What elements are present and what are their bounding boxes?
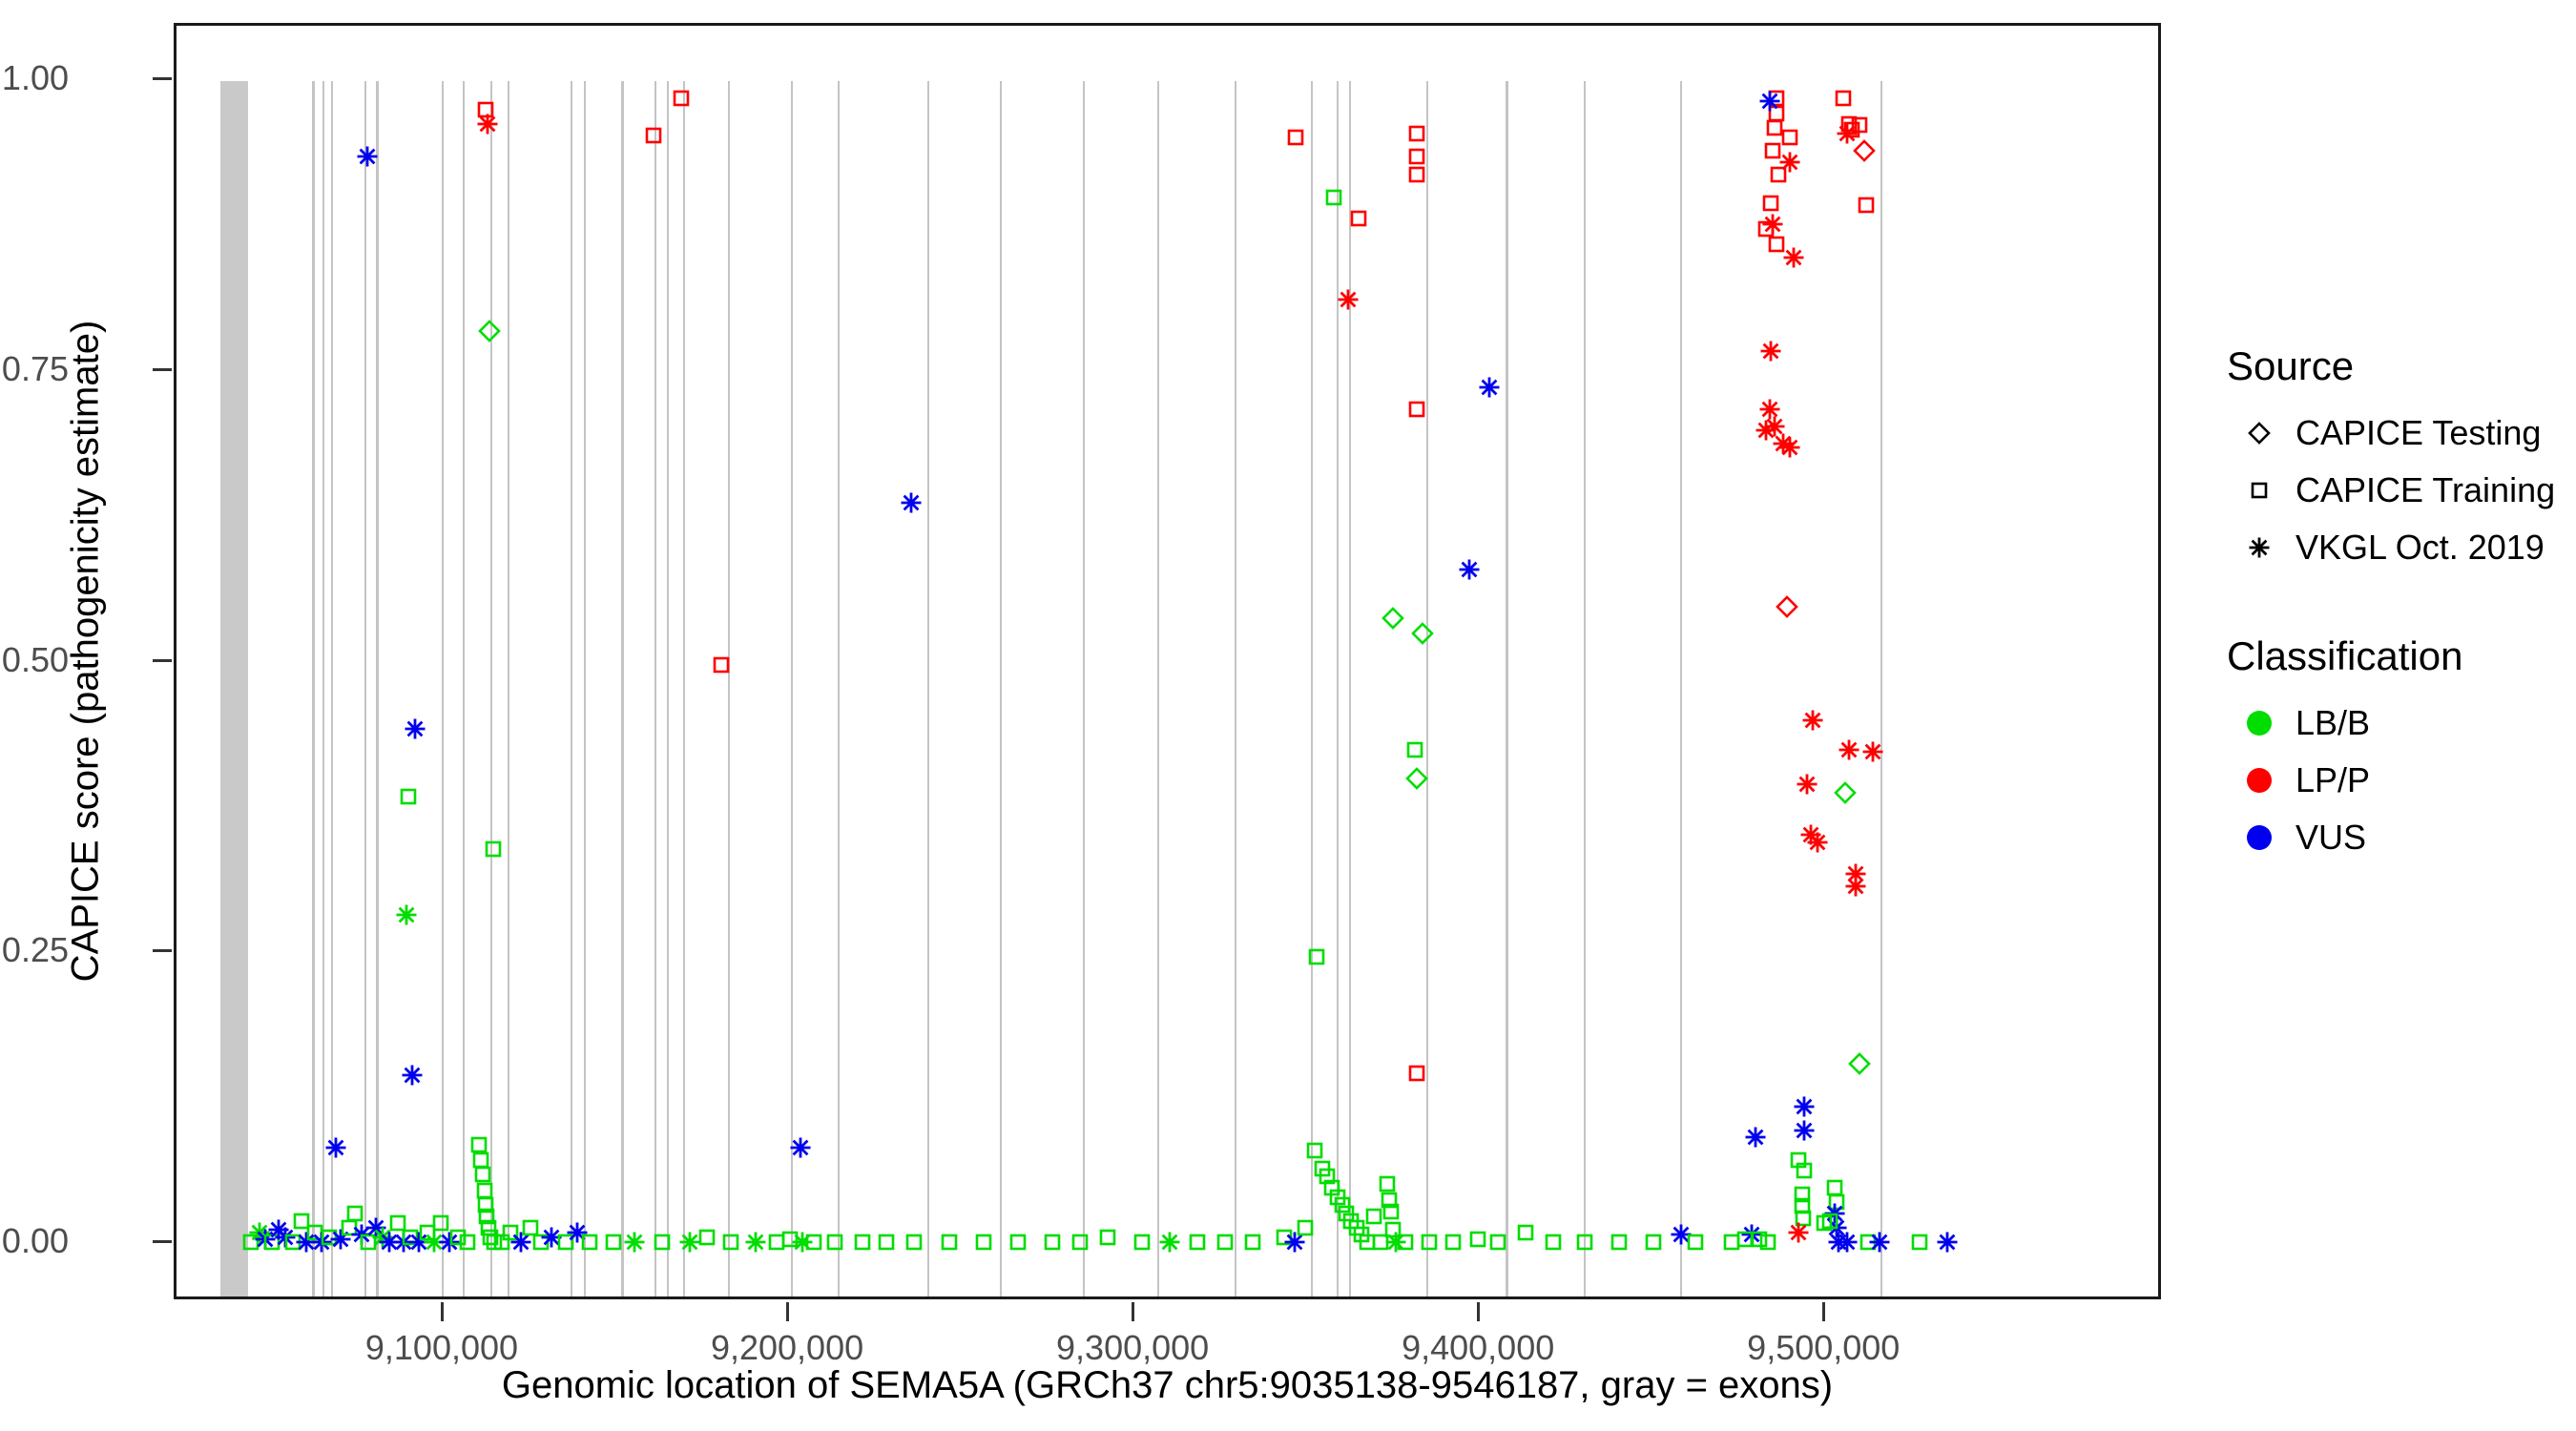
data-point xyxy=(317,1225,342,1250)
data-point xyxy=(394,902,419,927)
data-point xyxy=(273,1225,298,1250)
data-point xyxy=(1719,1230,1744,1255)
data-point xyxy=(1843,861,1868,886)
color-dot-icon xyxy=(2223,825,2296,850)
legend-classification-items: LB/BLP/PVUS xyxy=(2223,695,2566,866)
data-point xyxy=(472,1178,497,1203)
legend-item-label: LB/B xyxy=(2296,703,2370,743)
data-point xyxy=(1792,1118,1817,1143)
data-point xyxy=(489,1230,514,1255)
data-point xyxy=(1293,1215,1318,1240)
data-point xyxy=(529,1230,553,1255)
data-point xyxy=(1792,1158,1817,1183)
data-point xyxy=(398,1225,423,1250)
exon-marker xyxy=(1000,81,1002,1296)
data-point xyxy=(415,1220,440,1245)
exon-marker xyxy=(571,81,572,1296)
data-point xyxy=(337,1215,362,1240)
legend-source-title: Source xyxy=(2227,343,2566,389)
data-point xyxy=(801,1230,826,1255)
data-point xyxy=(1818,1209,1842,1234)
data-point xyxy=(1410,621,1435,646)
data-point xyxy=(1831,86,1856,111)
data-point xyxy=(1777,150,1802,175)
data-point xyxy=(1766,162,1791,187)
data-point xyxy=(473,97,498,122)
data-point xyxy=(1465,1227,1490,1252)
y-tick-mark xyxy=(153,1240,172,1243)
data-point xyxy=(1513,1220,1538,1245)
data-point xyxy=(1130,1230,1154,1255)
legend-item-asterisk[interactable]: VKGL Oct. 2019 xyxy=(2223,519,2566,576)
data-point xyxy=(1775,594,1799,619)
data-point xyxy=(396,784,421,809)
exon-region-wide xyxy=(220,81,248,1296)
data-point xyxy=(1361,1204,1386,1229)
data-point xyxy=(1786,1220,1811,1245)
x-tick-label: 9,300,000 xyxy=(1056,1328,1209,1368)
exon-marker xyxy=(1349,81,1351,1296)
data-point xyxy=(1006,1230,1030,1255)
exon-marker xyxy=(1584,81,1586,1296)
exon-marker xyxy=(322,81,324,1296)
data-point xyxy=(1907,1230,1932,1255)
data-point xyxy=(400,1063,425,1088)
data-point xyxy=(937,1230,962,1255)
data-point xyxy=(509,1230,533,1255)
exon-marker xyxy=(312,81,314,1296)
exon-marker xyxy=(621,81,623,1296)
exon-marker xyxy=(490,81,492,1296)
data-point xyxy=(850,1230,875,1255)
data-point xyxy=(1762,414,1787,439)
legend-item-lp-p[interactable]: LP/P xyxy=(2223,752,2566,809)
data-point xyxy=(718,1230,743,1255)
exon-marker xyxy=(463,81,465,1296)
data-point xyxy=(1824,1190,1849,1214)
data-point xyxy=(370,1225,395,1250)
data-point xyxy=(403,716,427,741)
x-tick-mark xyxy=(1132,1302,1134,1321)
y-tick-mark xyxy=(153,368,172,371)
data-point xyxy=(1095,1225,1120,1250)
exon-marker xyxy=(1083,81,1085,1296)
chart-root: CAPICE score (pathogenicity estimate) 0.… xyxy=(0,0,2576,1431)
square-icon xyxy=(2223,478,2296,503)
data-point xyxy=(266,1217,291,1242)
data-point xyxy=(1349,1222,1374,1247)
data-point xyxy=(1762,115,1787,140)
data-point xyxy=(1304,944,1329,969)
data-point xyxy=(1824,1215,1849,1240)
exon-marker xyxy=(927,81,929,1296)
data-point xyxy=(1375,1172,1400,1196)
data-point xyxy=(1764,232,1789,257)
data-point xyxy=(577,1230,602,1255)
data-point xyxy=(260,1230,284,1255)
data-point xyxy=(553,1230,578,1255)
x-tick-mark xyxy=(1477,1302,1480,1321)
data-point xyxy=(1856,1230,1880,1255)
data-point xyxy=(467,1132,491,1157)
data-point xyxy=(1068,1230,1092,1255)
data-point xyxy=(1355,1230,1380,1255)
data-point xyxy=(247,1220,272,1245)
data-point xyxy=(1835,121,1859,146)
data-point xyxy=(474,1204,499,1229)
data-point xyxy=(1330,1192,1355,1217)
data-point xyxy=(790,1230,815,1255)
x-tick-mark xyxy=(1822,1302,1825,1321)
data-point xyxy=(1758,191,1783,216)
data-point xyxy=(1607,1230,1631,1255)
data-point xyxy=(385,1211,410,1235)
data-point xyxy=(1790,1182,1815,1207)
exon-marker xyxy=(838,81,840,1296)
data-point xyxy=(1381,606,1405,631)
data-point xyxy=(1771,431,1796,456)
y-axis-label: CAPICE score (pathogenicity estimate) xyxy=(65,31,108,1272)
data-point xyxy=(280,1230,305,1255)
data-point xyxy=(902,1230,926,1255)
data-point xyxy=(622,1230,647,1255)
data-point xyxy=(1755,1230,1780,1255)
data-point xyxy=(1795,772,1819,797)
data-point xyxy=(1852,138,1877,163)
data-point xyxy=(1847,1051,1872,1076)
data-point xyxy=(455,1230,480,1255)
data-point xyxy=(1185,1230,1210,1255)
exon-marker xyxy=(1311,81,1313,1296)
data-point xyxy=(1441,1230,1465,1255)
data-point xyxy=(323,1135,348,1160)
data-point xyxy=(1777,125,1802,150)
data-point xyxy=(1282,1230,1307,1255)
data-point xyxy=(743,1230,768,1255)
data-point xyxy=(1383,1230,1408,1255)
data-point xyxy=(565,1220,590,1245)
data-point xyxy=(473,1192,498,1217)
legend-item-label: VKGL Oct. 2019 xyxy=(2296,528,2545,568)
data-point xyxy=(764,1230,789,1255)
legend-item-label: CAPICE Training xyxy=(2296,470,2555,510)
legend-item-square[interactable]: CAPICE Training xyxy=(2223,462,2566,519)
exon-marker xyxy=(442,81,444,1296)
data-point xyxy=(695,1225,719,1250)
legend-item-label: LP/P xyxy=(2296,760,2370,800)
y-tick-label: 0.75 xyxy=(2,349,69,389)
legend-item-label: VUS xyxy=(2296,818,2366,858)
exon-marker xyxy=(331,81,333,1296)
legend-classification-title: Classification xyxy=(2227,633,2566,679)
exon-marker xyxy=(1880,81,1882,1296)
data-point xyxy=(1786,1148,1811,1172)
data-point xyxy=(1790,1193,1815,1218)
data-point xyxy=(1302,1138,1327,1163)
data-point xyxy=(1393,1230,1418,1255)
data-point xyxy=(1760,212,1785,237)
exon-marker xyxy=(728,81,730,1296)
data-point xyxy=(1822,1175,1847,1200)
data-point xyxy=(1760,138,1785,163)
data-point xyxy=(476,1215,501,1240)
data-point xyxy=(1733,1227,1757,1252)
asterisk-icon xyxy=(2223,535,2296,560)
x-tick-mark xyxy=(786,1302,789,1321)
exon-marker xyxy=(1680,81,1682,1296)
exon-marker xyxy=(683,81,685,1296)
data-point xyxy=(1757,397,1782,422)
plot-area xyxy=(177,26,2158,1296)
exon-marker xyxy=(584,81,586,1296)
data-point xyxy=(1837,737,1861,762)
legend-spacer xyxy=(2223,576,2566,633)
data-point xyxy=(1754,418,1778,443)
data-point xyxy=(874,1230,899,1255)
data-point xyxy=(1757,89,1782,114)
exon-marker xyxy=(1235,81,1236,1296)
legend-item-diamond[interactable]: CAPICE Testing xyxy=(2223,404,2566,462)
data-point xyxy=(1402,737,1427,762)
data-point xyxy=(1321,185,1346,210)
x-tick-label: 9,400,000 xyxy=(1402,1328,1554,1368)
y-tick-mark xyxy=(153,659,172,662)
data-point xyxy=(1477,375,1502,400)
data-point xyxy=(294,1230,319,1255)
x-tick-label: 9,500,000 xyxy=(1747,1328,1900,1368)
data-point xyxy=(446,1225,470,1250)
data-point xyxy=(1319,1175,1344,1200)
data-point xyxy=(1847,113,1872,137)
data-point xyxy=(1781,245,1806,270)
data-point xyxy=(1743,1125,1768,1150)
data-point xyxy=(1837,112,1861,136)
legend-item-vus[interactable]: VUS xyxy=(2223,809,2566,866)
data-point xyxy=(1764,101,1789,126)
data-point xyxy=(822,1230,847,1255)
data-point xyxy=(253,1227,278,1252)
data-point xyxy=(1843,874,1868,899)
legend-source-items: CAPICE TestingCAPICE TrainingVKGL Oct. 2… xyxy=(2223,404,2566,576)
color-dot-icon xyxy=(2223,768,2296,793)
data-point xyxy=(406,1230,431,1255)
data-point xyxy=(1791,1206,1816,1231)
data-point xyxy=(1805,830,1830,855)
data-point xyxy=(377,1230,402,1255)
data-point xyxy=(899,490,924,515)
x-tick-mark xyxy=(441,1302,444,1321)
data-point xyxy=(1800,708,1825,733)
y-tick-mark xyxy=(153,949,172,952)
y-tick-mark xyxy=(153,77,172,80)
data-point xyxy=(1835,1230,1859,1255)
x-tick-label: 9,200,000 xyxy=(711,1328,863,1368)
color-dot-icon xyxy=(2223,711,2296,736)
data-point xyxy=(1379,1199,1403,1224)
legend: Source CAPICE TestingCAPICE TrainingVKGL… xyxy=(2223,343,2566,866)
data-point xyxy=(1854,193,1879,218)
x-axis-label: Genomic location of SEMA5A (GRCh37 chr5:… xyxy=(174,1364,2161,1407)
data-point xyxy=(1822,1201,1847,1226)
exon-marker xyxy=(508,81,509,1296)
y-tick-label: 0.50 xyxy=(2,640,69,680)
data-point xyxy=(1764,86,1789,111)
data-point xyxy=(539,1225,564,1250)
exon-marker xyxy=(654,81,656,1296)
exon-marker xyxy=(1337,81,1339,1296)
data-point xyxy=(481,837,506,861)
data-point xyxy=(1747,1227,1772,1252)
data-point xyxy=(482,1230,507,1255)
legend-item-lb-b[interactable]: LB/B xyxy=(2223,695,2566,752)
data-point xyxy=(971,1230,996,1255)
data-point xyxy=(391,1230,416,1255)
data-point xyxy=(1777,435,1802,460)
y-tick-label: 1.00 xyxy=(2,58,69,98)
data-point xyxy=(1739,1222,1764,1247)
data-point xyxy=(1339,1209,1363,1234)
data-point xyxy=(1641,1230,1666,1255)
x-tick-label: 9,100,000 xyxy=(365,1328,518,1368)
data-point xyxy=(498,1220,523,1245)
data-point xyxy=(1240,1230,1265,1255)
data-point xyxy=(1310,1156,1335,1181)
exon-marker xyxy=(791,81,793,1296)
data-point xyxy=(1754,217,1778,241)
data-point xyxy=(1683,1230,1708,1255)
data-point xyxy=(349,1222,374,1247)
data-point xyxy=(1798,822,1823,847)
exon-marker xyxy=(1506,81,1507,1296)
exon-marker xyxy=(1426,81,1428,1296)
data-point xyxy=(1833,780,1858,805)
data-point xyxy=(1377,1188,1402,1213)
data-point xyxy=(1417,1230,1442,1255)
exon-marker xyxy=(1157,81,1159,1296)
data-point xyxy=(518,1215,543,1240)
data-point xyxy=(475,112,500,136)
diamond-icon xyxy=(2223,421,2296,446)
data-point xyxy=(1839,117,1864,142)
exon-marker xyxy=(667,81,669,1296)
exon-marker xyxy=(376,81,378,1296)
data-point xyxy=(669,86,694,111)
exon-marker xyxy=(364,81,366,1296)
data-point xyxy=(1826,1230,1851,1255)
data-point xyxy=(1812,1211,1837,1235)
data-point xyxy=(1157,1230,1182,1255)
data-point xyxy=(677,1230,702,1255)
data-point xyxy=(1381,1217,1405,1242)
data-point xyxy=(1272,1225,1297,1250)
data-point xyxy=(289,1209,314,1234)
legend-item-label: CAPICE Testing xyxy=(2296,413,2541,453)
data-point xyxy=(1935,1230,1960,1255)
data-point xyxy=(1457,557,1482,582)
y-tick-label: 0.00 xyxy=(2,1221,69,1261)
data-point xyxy=(1040,1230,1065,1255)
plot-panel xyxy=(174,23,2161,1299)
data-point xyxy=(1792,1094,1817,1119)
data-point xyxy=(1283,125,1308,150)
data-point xyxy=(1368,1230,1393,1255)
data-point xyxy=(1541,1230,1566,1255)
data-point xyxy=(1758,339,1783,363)
y-tick-label: 0.25 xyxy=(2,930,69,970)
